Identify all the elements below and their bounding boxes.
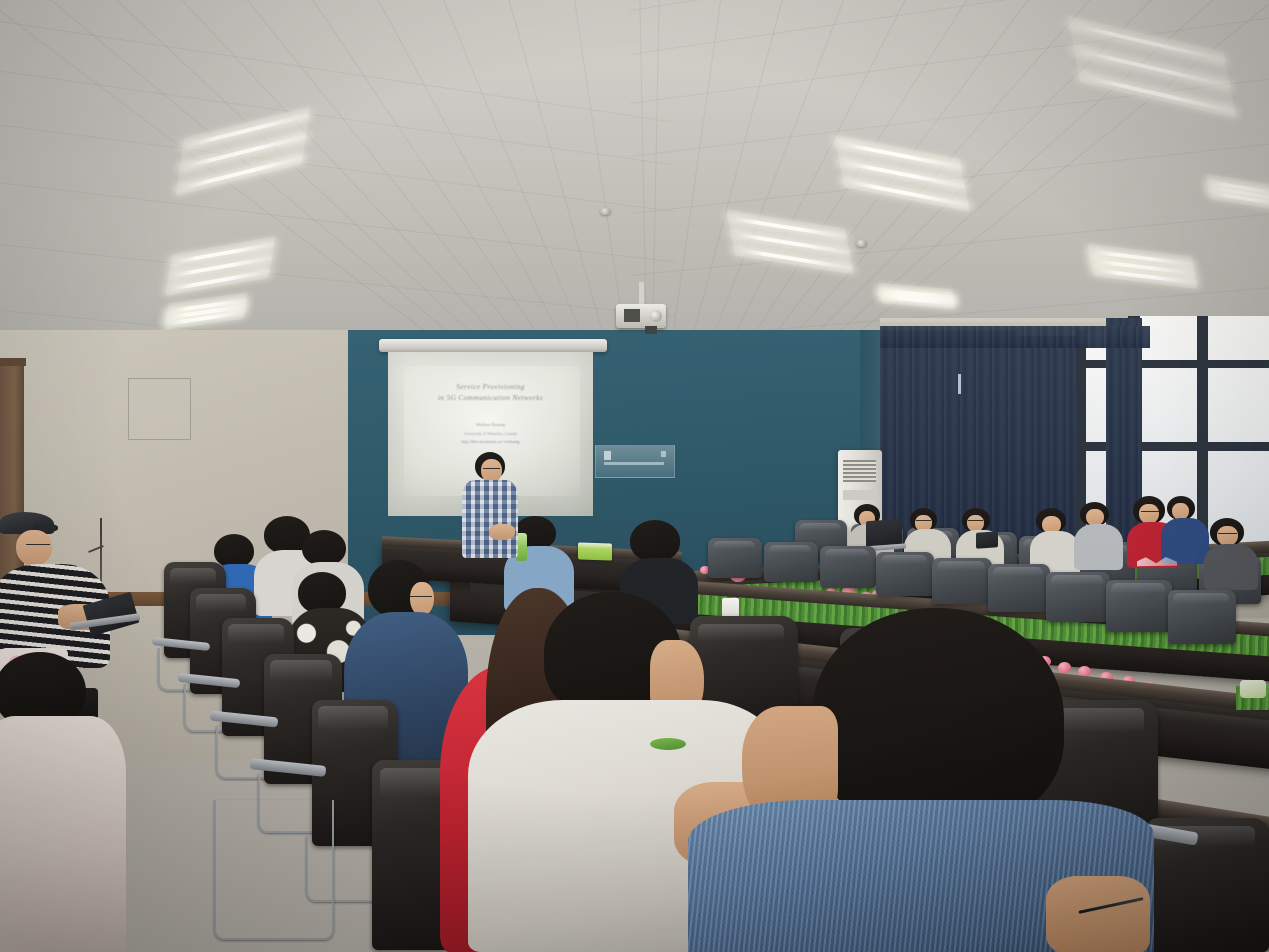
attendee-arm	[1046, 876, 1150, 952]
green-desk-item	[650, 738, 686, 750]
attendee-light-shirt	[0, 716, 126, 952]
presenter	[455, 452, 525, 572]
near-seating-layer	[0, 0, 1269, 952]
attendee-head	[812, 608, 1064, 828]
attendee-blue-heather	[716, 608, 1146, 952]
attendee-bottom-left	[0, 652, 130, 952]
corner-tissue-box	[1240, 680, 1266, 698]
presenter-glasses	[483, 468, 500, 471]
conference-room-photo: Service Provisioning in 5G Communication…	[0, 0, 1269, 952]
presenter-plaid-shirt	[462, 480, 518, 558]
chair-chrome-frame	[214, 800, 334, 940]
presenter-hands	[489, 524, 515, 540]
